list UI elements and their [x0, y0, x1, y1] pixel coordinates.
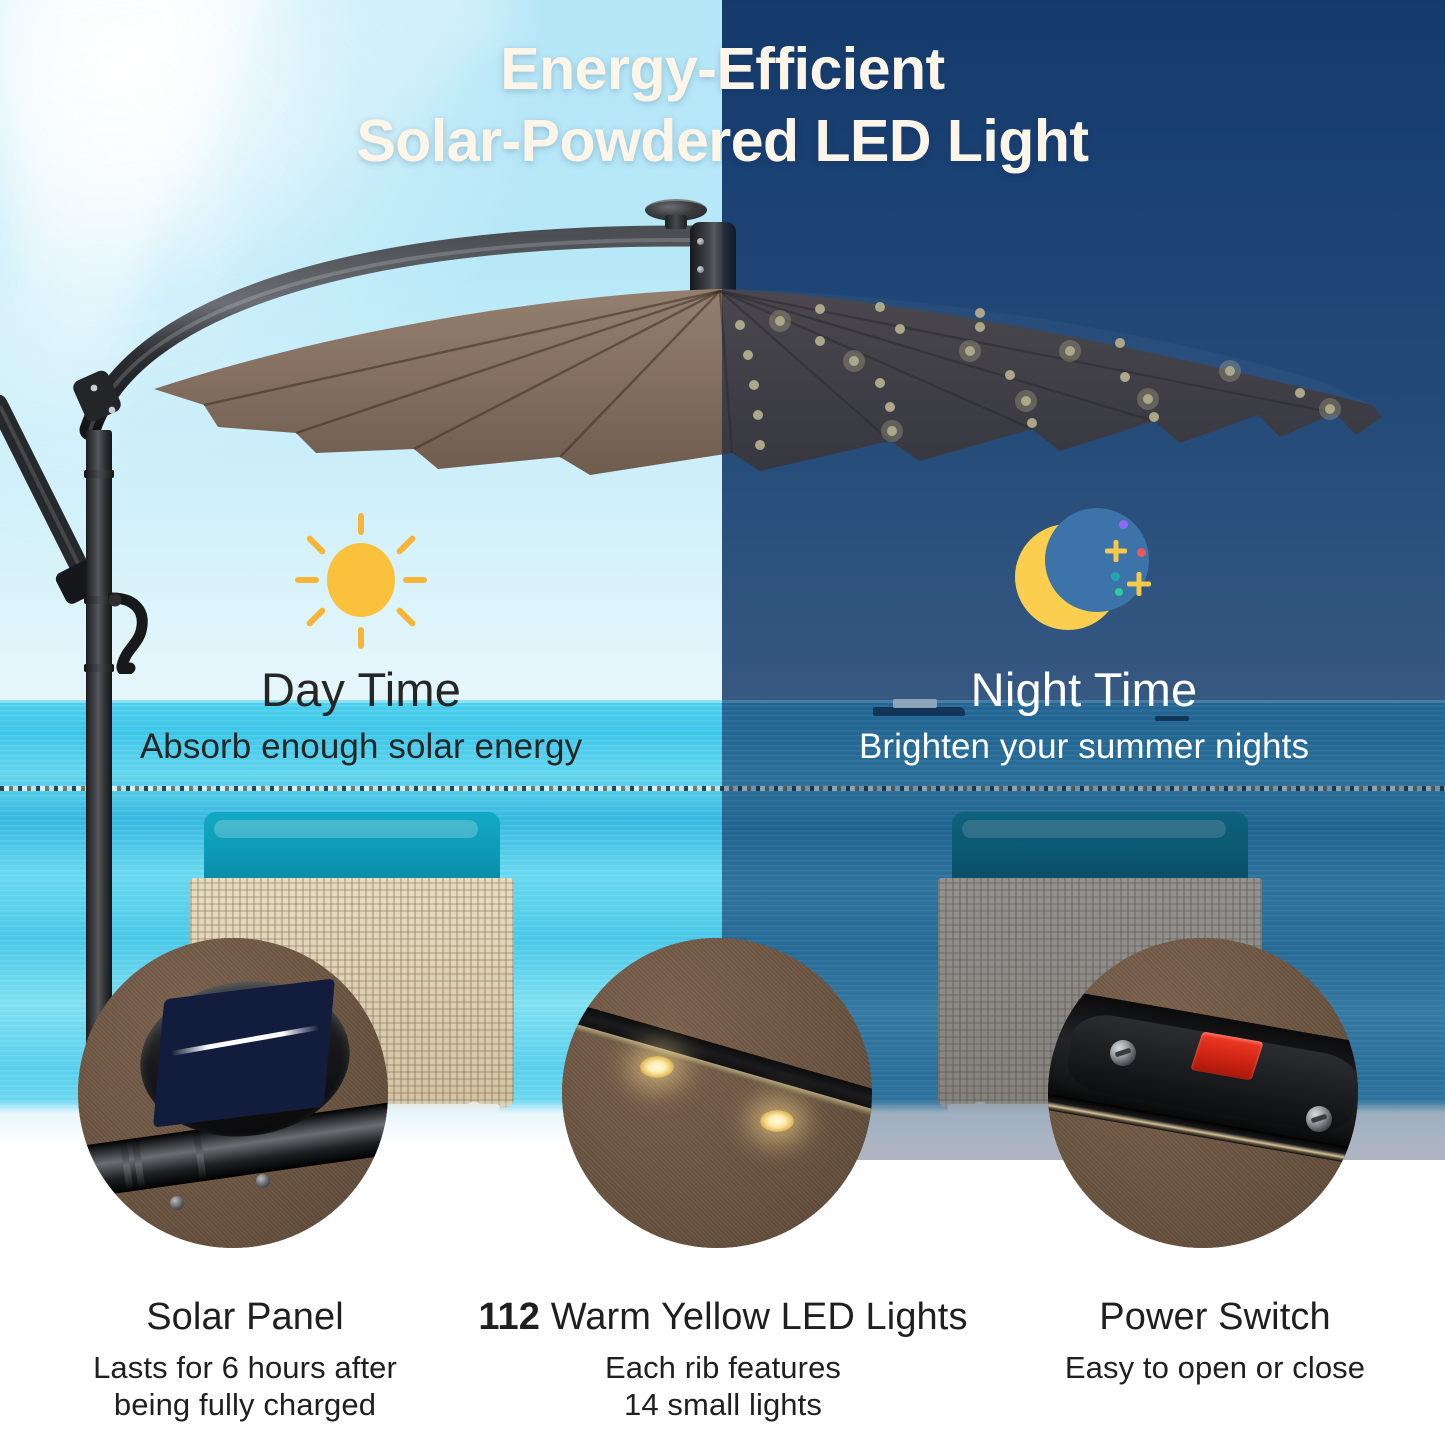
page-title: Energy-Efficient Solar-Powdered LED Ligh… — [0, 34, 1445, 178]
caption-heading: Power Switch — [990, 1296, 1440, 1339]
caption-solar-panel: Solar Panel Lasts for 6 hours after bein… — [10, 1296, 480, 1423]
sparkle-icon — [1105, 540, 1127, 562]
sun-icon — [0, 516, 722, 646]
caption-power-switch: Power Switch Easy to open or close — [990, 1296, 1440, 1386]
day-time-subtitle: Absorb enough solar energy — [0, 727, 722, 767]
day-time-title: Day Time — [0, 662, 722, 717]
callout-circle-led-lights — [562, 938, 872, 1248]
caption-body-line: Each rib features — [438, 1349, 1008, 1386]
pole-band — [84, 470, 114, 478]
moon-icon — [723, 516, 1445, 646]
caption-heading: Solar Panel — [10, 1296, 480, 1339]
title-line-2: Solar-Powdered LED Light — [0, 106, 1445, 178]
caption-body-line: 14 small lights — [438, 1386, 1008, 1423]
callout-circle-solar-panel — [78, 938, 388, 1248]
led-light-icon — [760, 1110, 794, 1132]
screw-icon — [1306, 1106, 1332, 1132]
umbrella-canopy — [120, 285, 1410, 515]
caption-led-lights: 112 Warm Yellow LED Lights Each rib feat… — [438, 1296, 1008, 1423]
led-light-icon — [640, 1056, 674, 1078]
screw-icon — [256, 1174, 270, 1188]
callout-captions: Solar Panel Lasts for 6 hours after bein… — [0, 1296, 1445, 1445]
screw-icon — [170, 1196, 184, 1210]
caption-heading: 112 Warm Yellow LED Lights — [438, 1296, 1008, 1339]
title-line-1: Energy-Efficient — [500, 36, 944, 102]
callout-circle-power-switch — [1048, 938, 1358, 1248]
night-time-block: Night Time Brighten your summer nights — [723, 516, 1445, 767]
led-count: 112 — [478, 1296, 540, 1338]
caption-body-line: being fully charged — [10, 1386, 480, 1423]
day-time-block: Day Time Absorb enough solar energy — [0, 516, 722, 767]
night-time-subtitle: Brighten your summer nights — [723, 727, 1445, 767]
night-time-title: Night Time — [723, 662, 1445, 717]
caption-heading-text: Warm Yellow LED Lights — [540, 1296, 968, 1338]
infographic-page: Energy-Efficient Solar-Powdered LED Ligh… — [0, 0, 1445, 1445]
caption-body-line: Lasts for 6 hours after — [10, 1349, 480, 1386]
screw-icon — [1110, 1040, 1136, 1066]
caption-body-line: Easy to open or close — [990, 1349, 1440, 1386]
sparkle-icon — [1127, 572, 1151, 596]
